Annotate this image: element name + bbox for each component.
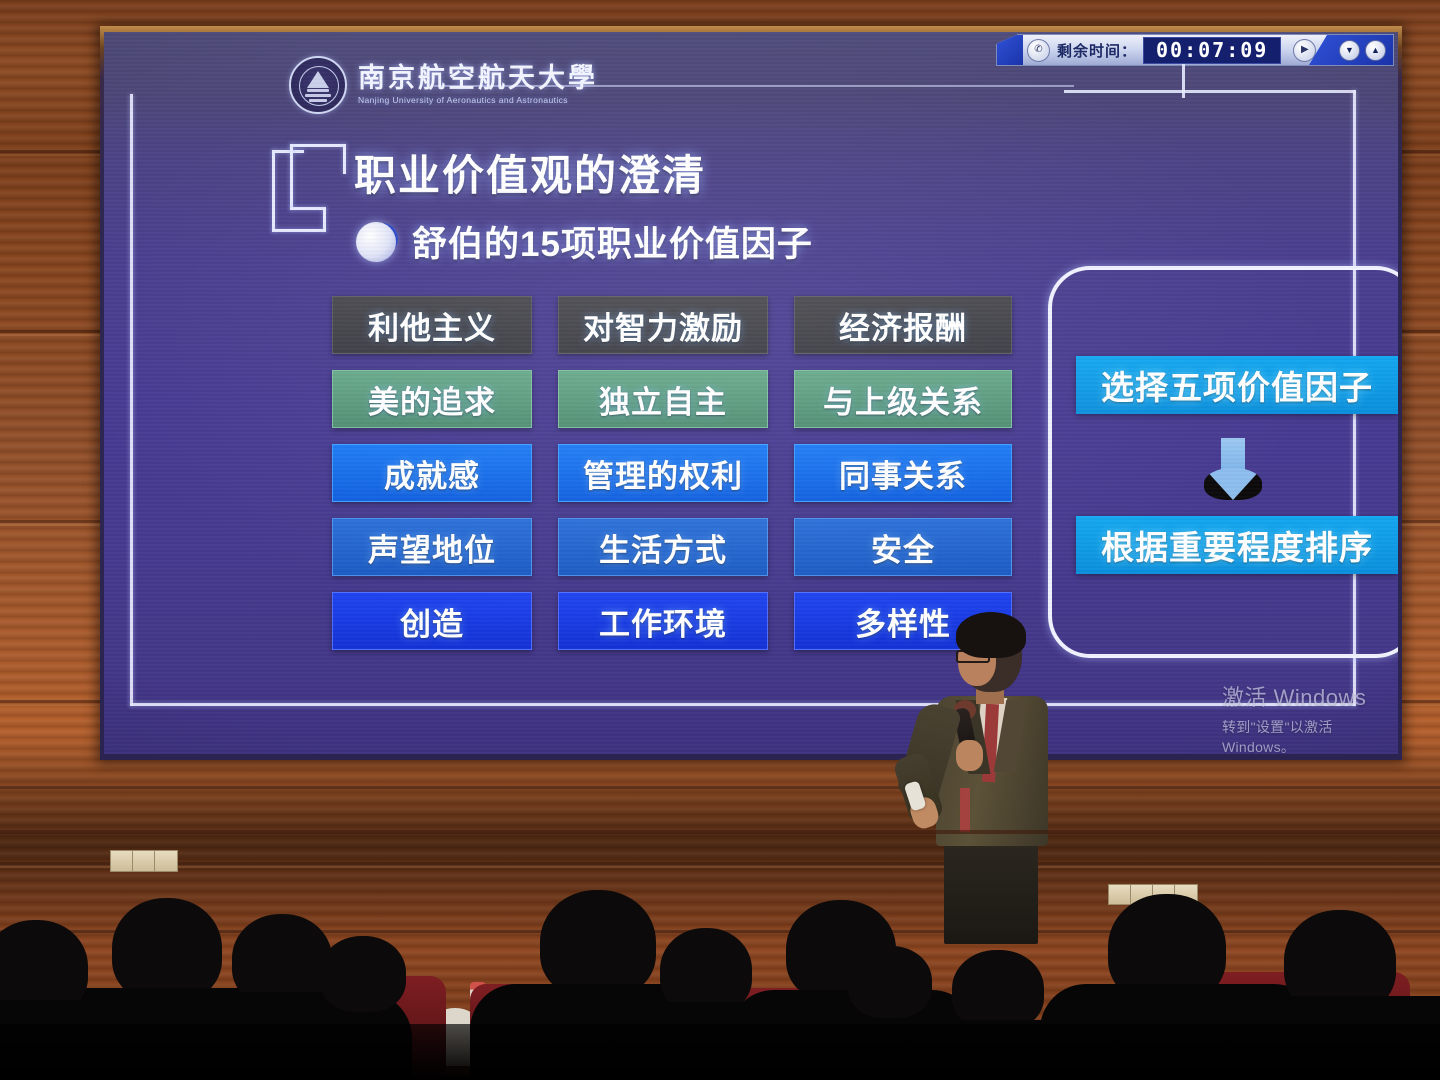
value-factor-chip: 成就感 xyxy=(332,444,532,502)
bullet-dot-icon xyxy=(356,222,396,262)
value-factor-chip: 工作环境 xyxy=(558,592,768,650)
value-factor-chip: 声望地位 xyxy=(332,518,532,576)
value-factor-chip: 利他主义 xyxy=(332,296,532,354)
watermark-title: 激活 Windows xyxy=(1222,680,1398,712)
chevron-down-icon[interactable]: ▼ xyxy=(1339,40,1360,61)
value-factor-chip: 对智力激励 xyxy=(558,296,768,354)
presentation-slide: 南京航空航天大學 Nanjing University of Aeronauti… xyxy=(104,32,1398,754)
page-subtitle: 舒伯的15项职业价值因子 xyxy=(412,216,813,267)
slide-frame-bottom xyxy=(130,703,1356,706)
timer-pointer xyxy=(1182,64,1185,98)
value-factor-chip: 创造 xyxy=(332,592,532,650)
wall-switch-plate xyxy=(110,850,134,872)
process-step-rank: 根据重要程度排序 xyxy=(1076,516,1398,574)
bracket-decoration-icon xyxy=(272,144,346,232)
timer-collapse-group: ▼ ▲ xyxy=(1309,35,1393,65)
university-name-en: Nanjing University of Aeronautics and As… xyxy=(358,96,598,105)
audience-head xyxy=(320,936,406,1012)
timer-play-button[interactable]: ▶ xyxy=(1293,39,1316,62)
down-arrow-icon xyxy=(1204,438,1262,500)
page-title: 职业价值观的澄清 xyxy=(354,142,706,203)
audience-head xyxy=(112,898,222,1002)
stage-edge xyxy=(0,830,1440,834)
value-factor-chip: 独立自主 xyxy=(558,370,768,428)
university-name-cn: 南京航空航天大學 xyxy=(358,65,598,92)
presenter-clicker xyxy=(904,780,927,811)
value-factor-chip: 经济报酬 xyxy=(794,296,1012,354)
countdown-timer-bar[interactable]: ✆ 剩余时间： 00:07:09 ▶ ▮◀ ▼ ▲ xyxy=(996,34,1394,66)
audience-head xyxy=(540,890,656,998)
watermark-subtitle: 转到"设置"以激活 Windows。 xyxy=(1222,717,1398,754)
audience-head xyxy=(848,946,932,1018)
value-factor-grid: 利他主义对智力激励经济报酬美的追求独立自主与上级关系成就感管理的权利同事关系声望… xyxy=(332,296,1012,650)
value-factor-chip: 管理的权利 xyxy=(558,444,768,502)
slide-frame-left xyxy=(130,94,133,706)
process-panel: 选择五项价值因子 根据重要程度排序 xyxy=(1048,266,1398,658)
value-factor-chip: 与上级关系 xyxy=(794,370,1012,428)
value-factor-chip: 安全 xyxy=(794,518,1012,576)
process-step-select: 选择五项价值因子 xyxy=(1076,356,1398,414)
lecture-hall-scene: 南京航空航天大學 Nanjing University of Aeronauti… xyxy=(0,0,1440,1080)
value-factor-chip: 生活方式 xyxy=(558,518,768,576)
value-factor-chip: 美的追求 xyxy=(332,370,532,428)
clock-icon: ✆ xyxy=(1027,39,1050,62)
timer-value: 00:07:09 xyxy=(1143,37,1281,64)
audience xyxy=(0,880,1440,1080)
nuaa-crest-icon xyxy=(289,56,347,114)
chevron-up-icon[interactable]: ▲ xyxy=(1365,40,1386,61)
subtitle-row: 舒伯的15项职业价值因子 xyxy=(356,216,813,267)
audience-head xyxy=(952,950,1044,1030)
lanyard xyxy=(960,788,970,832)
windows-activation-watermark: 激活 Windows 转到"设置"以激活 Windows。 xyxy=(1222,680,1398,754)
value-factor-chip: 同事关系 xyxy=(794,444,1012,502)
university-logo: 南京航空航天大學 Nanjing University of Aeronauti… xyxy=(289,56,598,114)
timer-label: 剩余时间： xyxy=(1057,40,1137,61)
wall-switch-plate xyxy=(154,850,178,872)
slide-frame-top xyxy=(1064,90,1356,93)
wall-switch-plate xyxy=(132,850,156,872)
